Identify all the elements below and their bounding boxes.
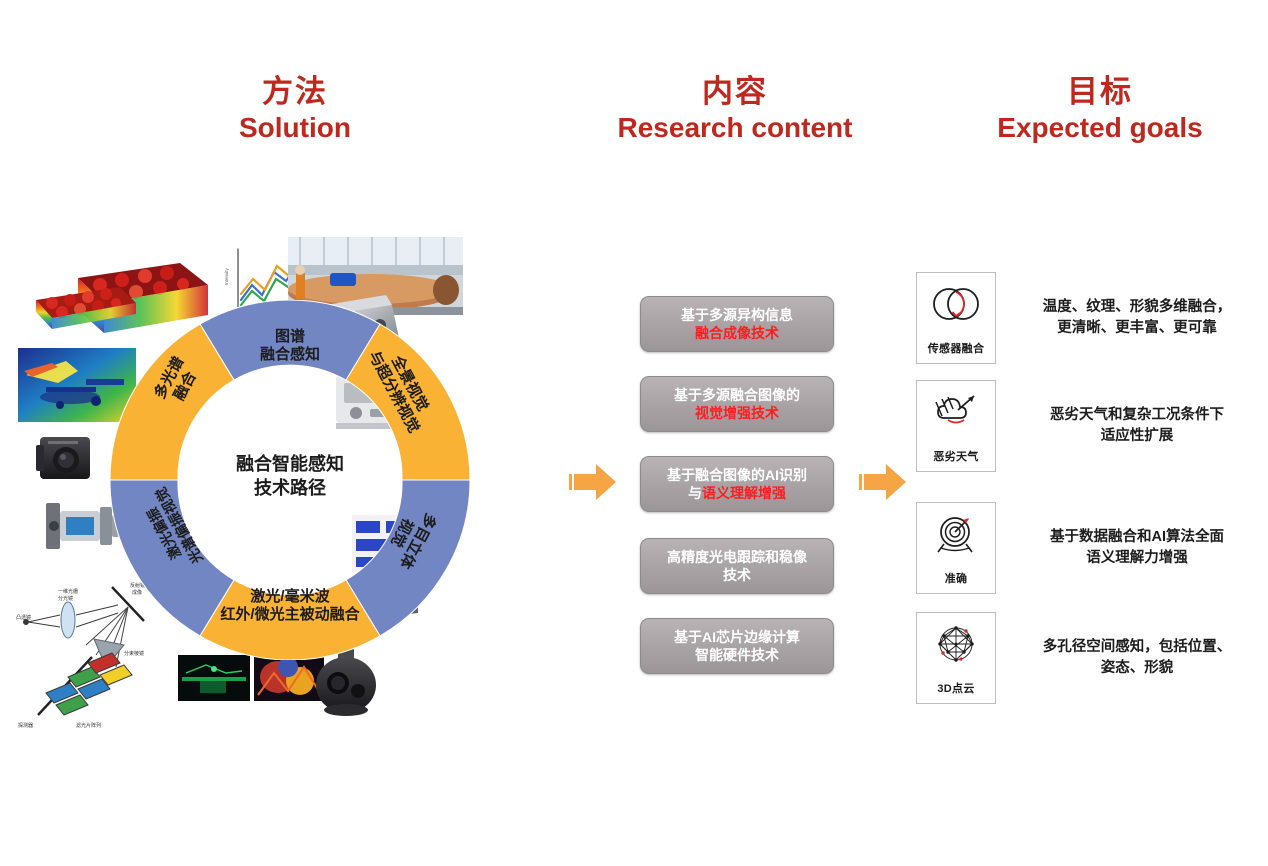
goal-row-point-cloud-3d: 3D点云 多孔径空间感知，包括位置、 姿态、形貌 [916, 610, 1258, 706]
research-box-multi-source-fused-image-vision-enhancement[interactable]: 基于多源融合图像的 视觉增强技术 [640, 376, 834, 432]
column-header-content: 内容 Research content [590, 74, 880, 144]
goal-row-bad-weather: 恶劣天气 恶劣天气和复杂工况条件下 适应性扩展 [916, 378, 1258, 474]
svg-text:凸透镜: 凸透镜 [16, 614, 31, 621]
research-box-3-line1: 高精度光电跟踪和稳像 [667, 549, 807, 565]
arrow-solution-to-content [566, 458, 620, 506]
goal-icon-box-sensor-fusion[interactable]: 传感器融合 [916, 272, 996, 364]
donut-center-label: 融合智能感知 技术路径 [196, 452, 384, 501]
photo-night-vision-screen [178, 655, 250, 701]
header-solution-cn: 方法 [180, 74, 410, 111]
research-box-high-precision-photoelectric-tracking[interactable]: 高精度光电跟踪和稳像 技术 [640, 538, 834, 594]
svg-text:滤光片阵列: 滤光片阵列 [76, 722, 101, 729]
research-box-multi-source-heterogeneous-fusion-imaging[interactable]: 基于多源异构信息 融合成像技术 [640, 296, 834, 352]
header-content-cn: 内容 [590, 74, 880, 111]
goal-icon-box-accuracy[interactable]: 准确 [916, 502, 996, 594]
svg-text:一维光栅: 一维光栅 [58, 588, 78, 595]
goal-caption-point-cloud-3d: 3D点云 [937, 680, 974, 696]
research-box-0-line2: 融合成像技术 [695, 325, 779, 341]
research-box-2-line2: 语义理解增强 [702, 485, 786, 501]
research-box-4-line1: 基于AI芯片边缘计算 [674, 629, 800, 645]
goal-caption-accuracy: 准确 [945, 570, 968, 586]
column-header-goals: 目标 Expected goals [950, 74, 1250, 144]
photo-black-camera [36, 437, 90, 479]
research-box-3-line2: 技术 [723, 567, 751, 583]
research-box-ai-chip-edge-computing-hardware[interactable]: 基于AI芯片边缘计算 智能硬件技术 [640, 618, 834, 674]
goal-text-accuracy: 基于数据融合和AI算法全面 语义理解力增强 [1018, 527, 1256, 568]
research-box-0-line1: 基于多源异构信息 [681, 307, 793, 323]
venn-circles-icon [928, 282, 984, 326]
goal-row-sensor-fusion: 传感器融合 温度、纹理、形貌多维融合， 更清晰、更丰富、更可靠 [916, 270, 1258, 366]
svg-text:Intensity: Intensity [224, 267, 229, 285]
research-box-4-line2: 智能硬件技术 [695, 647, 779, 663]
header-goals-cn: 目标 [950, 74, 1250, 111]
column-header-solution: 方法 Solution [180, 74, 410, 144]
goal-caption-sensor-fusion: 传感器融合 [928, 340, 985, 356]
header-solution-en: Solution [180, 111, 410, 144]
research-box-fused-image-ai-recognition-semantics[interactable]: 基于融合图像的AI识别 与语义理解增强 [640, 456, 834, 512]
header-goals-en: Expected goals [950, 111, 1250, 144]
research-box-2-line2-prefix: 与 [688, 485, 702, 501]
research-box-1-line2: 视觉增强技术 [695, 405, 779, 421]
point-cloud-icon [928, 622, 984, 666]
rain-cloud-icon [928, 390, 984, 434]
goal-text-point-cloud-3d: 多孔径空间感知，包括位置、 姿态、形貌 [1018, 637, 1256, 678]
svg-text:分光镜: 分光镜 [58, 595, 73, 602]
photo-colorful-screen [254, 655, 324, 701]
target-dart-icon [928, 512, 984, 556]
header-content-en: Research content [590, 111, 880, 144]
svg-text:探测器: 探测器 [18, 722, 33, 729]
diagram-canvas: 方法 Solution 内容 Research content 目标 Expec… [0, 0, 1268, 866]
research-box-2-line1: 基于融合图像的AI识别 [667, 467, 807, 483]
goal-caption-bad-weather: 恶劣天气 [933, 448, 978, 464]
goal-icon-box-bad-weather[interactable]: 恶劣天气 [916, 380, 996, 472]
goal-text-sensor-fusion: 温度、纹理、形貌多维融合， 更清晰、更丰富、更可靠 [1018, 297, 1256, 338]
solution-donut-chart: 图谱 融合感知 全景视觉 与超分辨视觉 多目立体 视觉 激光/毫米波 红外/微光… [110, 300, 470, 660]
goal-text-bad-weather: 恶劣天气和复杂工况条件下 适应性扩展 [1018, 405, 1256, 446]
arrow-content-to-goals [856, 458, 910, 506]
goal-icon-box-point-cloud-3d[interactable]: 3D点云 [916, 612, 996, 704]
research-box-1-line1: 基于多源融合图像的 [674, 387, 800, 403]
goal-row-accuracy: 准确 基于数据融合和AI算法全面 语义理解力增强 [916, 500, 1258, 596]
